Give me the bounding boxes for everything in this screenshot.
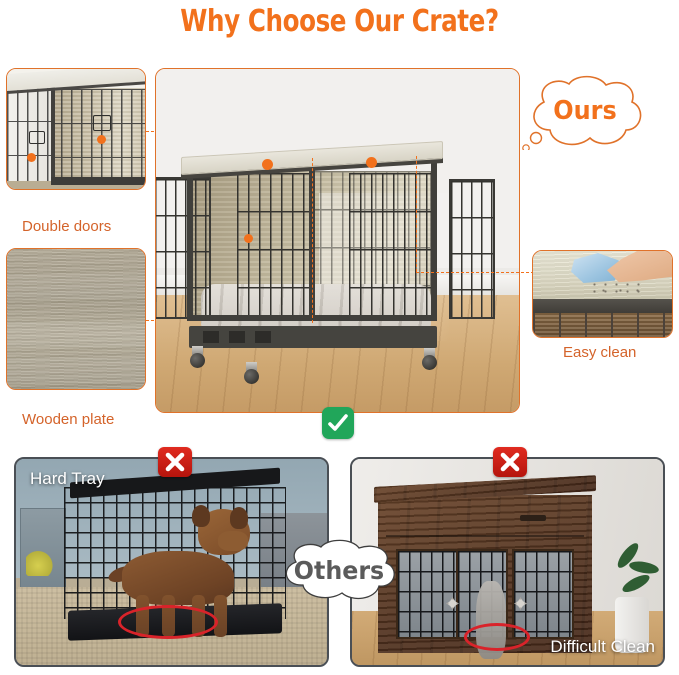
others-bubble-label: Others — [279, 538, 399, 602]
cross-glyph — [498, 450, 522, 474]
caster-wheel — [243, 362, 260, 384]
mesh-door-left — [396, 549, 458, 639]
connector-top-board-drop — [312, 158, 313, 323]
page-title: Why Choose Our Crate? — [61, 4, 618, 39]
callout-dot-top-board — [262, 159, 273, 170]
latch-right-icon — [93, 115, 111, 131]
check-icon — [322, 407, 354, 439]
background-plant — [26, 550, 56, 576]
dog-snout — [218, 531, 248, 551]
check-glyph — [327, 412, 349, 434]
callout-dot-easy-clean — [366, 157, 377, 168]
caption-wooden-plate: Wooden plate — [22, 411, 114, 428]
caster-tire — [190, 353, 205, 368]
caption-double-doors: Double doors — [22, 218, 111, 235]
crate-interior-wood — [51, 89, 145, 179]
base-vent-slot — [229, 331, 245, 343]
main-crate-photo — [156, 69, 519, 412]
base-vent-slot — [203, 331, 219, 343]
feature-panel-double-doors — [6, 68, 146, 190]
open-door-right — [449, 179, 495, 319]
mesh-door-right — [512, 549, 574, 639]
open-door-left — [155, 177, 211, 319]
cabinet-drawer — [386, 501, 584, 537]
problem-highlight-ellipse — [118, 605, 218, 639]
crate-door-frame — [51, 86, 55, 181]
ours-bubble: Ours — [522, 72, 648, 150]
connector-easy-clean-drop — [416, 156, 417, 272]
crate-post-right — [431, 155, 437, 319]
base-vent-slot — [255, 331, 271, 343]
dog-leg — [214, 595, 227, 637]
others-bubble: Others — [276, 538, 402, 602]
connector-easy-clean — [416, 272, 534, 273]
crate-frame-edge — [533, 299, 672, 313]
drawer-handle — [520, 515, 546, 521]
dog-ear — [192, 505, 210, 527]
callout-dot-latch-right — [97, 135, 106, 144]
cross-icon — [158, 447, 192, 477]
wood-grain-band — [7, 322, 145, 347]
wire-mesh-front-door — [237, 173, 311, 317]
problem-highlight-ellipse — [464, 623, 530, 651]
caster-tire — [244, 369, 259, 384]
caster-wheel — [421, 348, 438, 370]
caster-tire — [422, 355, 437, 370]
crate-double-door-icon — [7, 69, 145, 189]
cross-icon — [493, 447, 527, 477]
callout-dot-latch — [244, 234, 253, 243]
wood-grain-band — [7, 358, 145, 383]
caster-wheel — [189, 346, 206, 368]
dog-ear — [230, 507, 248, 529]
latch-left-icon — [29, 131, 45, 144]
wire-mesh-texture — [51, 89, 145, 179]
hand-wiping-cloth-icon — [533, 251, 672, 299]
feature-panel-easy-clean — [532, 250, 673, 338]
crate-assembly — [181, 149, 481, 364]
crate-base-bar — [51, 177, 145, 185]
callout-dot-latch-left — [27, 153, 36, 162]
cross-glyph — [163, 450, 187, 474]
wire-mesh-right-door — [349, 173, 437, 317]
main-product-panel — [155, 68, 520, 413]
dirt-crumbs — [589, 281, 643, 293]
wood-grain-band — [7, 274, 145, 299]
rattan-base-strip — [533, 313, 672, 337]
caption-difficult-clean: Difficult Clean — [550, 637, 655, 657]
crate-base-frame — [189, 326, 437, 348]
caption-easy-clean: Easy clean — [563, 344, 636, 361]
caption-hard-tray: Hard Tray — [30, 469, 105, 489]
crate-post-left — [187, 169, 193, 321]
feature-panel-wooden-plate — [6, 248, 146, 390]
wood-grain-icon — [7, 249, 145, 389]
ours-bubble-label: Ours — [527, 72, 643, 150]
